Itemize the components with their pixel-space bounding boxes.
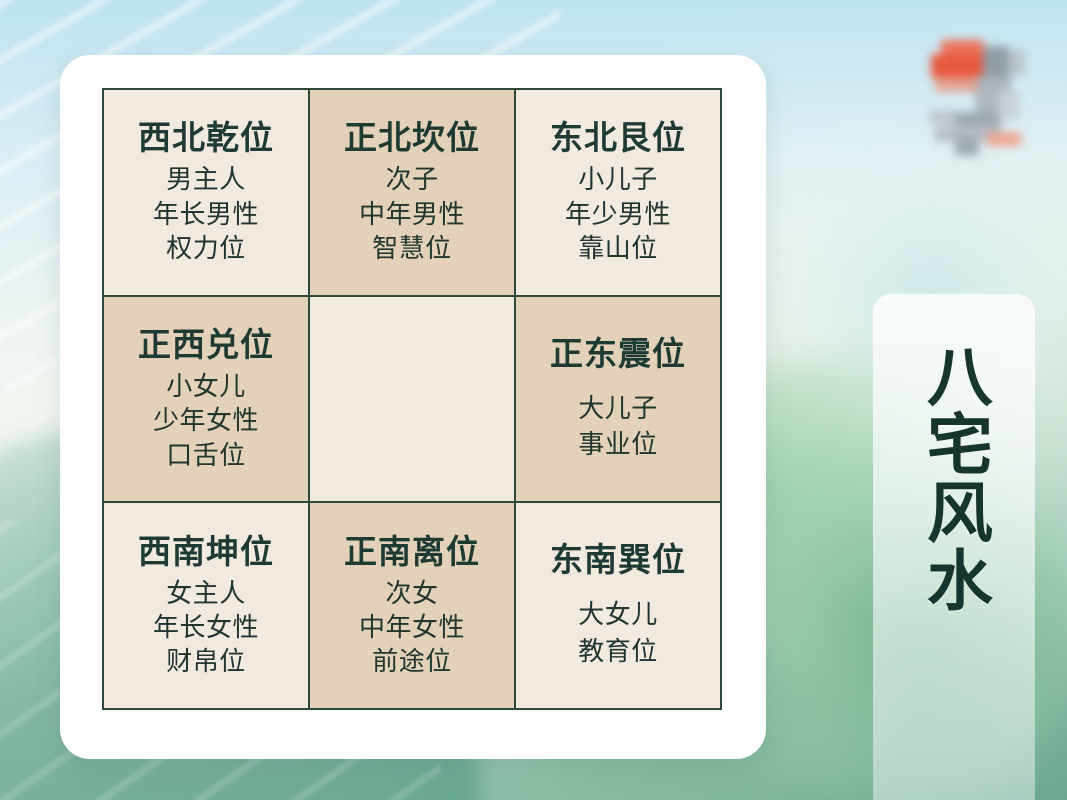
bagua-grid: 西北乾位 男主人 年长男性 权力位 正北坎位 次子 中年男性 智慧位 东北艮位 … — [102, 88, 722, 710]
cell-lines: 次子 中年男性 智慧位 — [359, 162, 465, 265]
cell-line: 前途位 — [359, 644, 465, 678]
cell-line: 女主人 — [153, 576, 259, 610]
cell-line: 靠山位 — [565, 231, 671, 265]
cell-line: 大女儿 — [578, 596, 658, 633]
side-title-panel: 八宅风水 — [873, 294, 1035, 800]
cell-title: 西南坤位 — [138, 533, 274, 572]
cell-line: 男主人 — [153, 162, 259, 196]
cell-line: 少年女性 — [153, 403, 259, 437]
cell-lines: 男主人 年长男性 权力位 — [153, 162, 259, 265]
grid-cell-south-li[interactable]: 正南离位 次女 中年女性 前途位 — [310, 503, 514, 708]
cell-line: 中年女性 — [359, 610, 465, 644]
cell-lines: 小女儿 少年女性 口舌位 — [153, 369, 259, 472]
grid-cell-east-zhen[interactable]: 正东震位 大儿子 事业位 — [516, 297, 720, 502]
cell-line: 教育位 — [578, 633, 658, 670]
cell-title: 正南离位 — [344, 533, 480, 572]
cell-title: 正北坎位 — [344, 119, 480, 158]
cell-line: 次子 — [359, 162, 465, 196]
cell-line: 年少男性 — [565, 197, 671, 231]
cell-line: 口舌位 — [153, 438, 259, 472]
cell-line: 智慧位 — [359, 231, 465, 265]
watermark-logo — [925, 32, 1040, 160]
cell-title: 东南巽位 — [550, 541, 686, 580]
cell-line: 次女 — [359, 576, 465, 610]
grid-cell-northeast-gen[interactable]: 东北艮位 小儿子 年少男性 靠山位 — [516, 90, 720, 295]
grid-cell-northwest-qian[interactable]: 西北乾位 男主人 年长男性 权力位 — [104, 90, 308, 295]
cell-line: 中年男性 — [359, 197, 465, 231]
grid-cell-southeast-xun[interactable]: 东南巽位 大女儿 教育位 — [516, 503, 720, 708]
cell-title: 东北艮位 — [550, 119, 686, 158]
grid-cell-center[interactable] — [310, 297, 514, 502]
cell-lines: 次女 中年女性 前途位 — [359, 576, 465, 679]
poster-vertical-title: 八宅风水 — [911, 342, 997, 614]
cell-line: 财帛位 — [153, 644, 259, 678]
cell-title: 西北乾位 — [138, 119, 274, 158]
cell-line: 小女儿 — [153, 369, 259, 403]
cell-line: 权力位 — [153, 231, 259, 265]
grid-cell-west-dui[interactable]: 正西兑位 小女儿 少年女性 口舌位 — [104, 297, 308, 502]
grid-cell-north-kan[interactable]: 正北坎位 次子 中年男性 智慧位 — [310, 90, 514, 295]
poster-stage: 西北乾位 男主人 年长男性 权力位 正北坎位 次子 中年男性 智慧位 东北艮位 … — [0, 0, 1067, 800]
cell-lines: 大儿子 事业位 — [578, 390, 658, 464]
cell-line: 年长女性 — [153, 610, 259, 644]
cell-lines: 大女儿 教育位 — [578, 596, 658, 670]
cell-title: 正西兑位 — [138, 326, 274, 365]
cell-title: 正东震位 — [550, 335, 686, 374]
cell-line: 年长男性 — [153, 197, 259, 231]
cell-line: 事业位 — [578, 426, 658, 463]
cell-line: 小儿子 — [565, 162, 671, 196]
cell-lines: 小儿子 年少男性 靠山位 — [565, 162, 671, 265]
cell-line: 大儿子 — [578, 390, 658, 427]
cell-lines: 女主人 年长女性 财帛位 — [153, 576, 259, 679]
grid-cell-southwest-kun[interactable]: 西南坤位 女主人 年长女性 财帛位 — [104, 503, 308, 708]
